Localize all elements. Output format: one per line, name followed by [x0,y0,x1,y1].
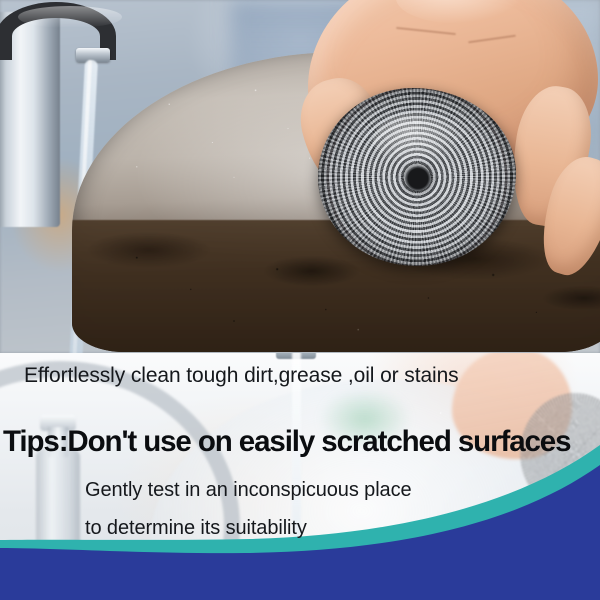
headline-text: Effortlessly clean tough dirt,grease ,oi… [24,364,459,388]
tips-heading-text: Tips:Don't use on easily scratched surfa… [3,425,570,459]
subtext-line-1: Gently test in an inconspicuous place [85,479,412,502]
product-banner: Effortlessly clean tough dirt,grease ,oi… [0,0,600,600]
bottom-info-panel [0,353,600,600]
soap-bottle [36,449,80,599]
top-product-photo [0,0,600,353]
scrubber-center [405,166,431,191]
steel-wool-scrubber [318,88,516,266]
subtext-line-2: to determine its suitability [85,517,307,540]
